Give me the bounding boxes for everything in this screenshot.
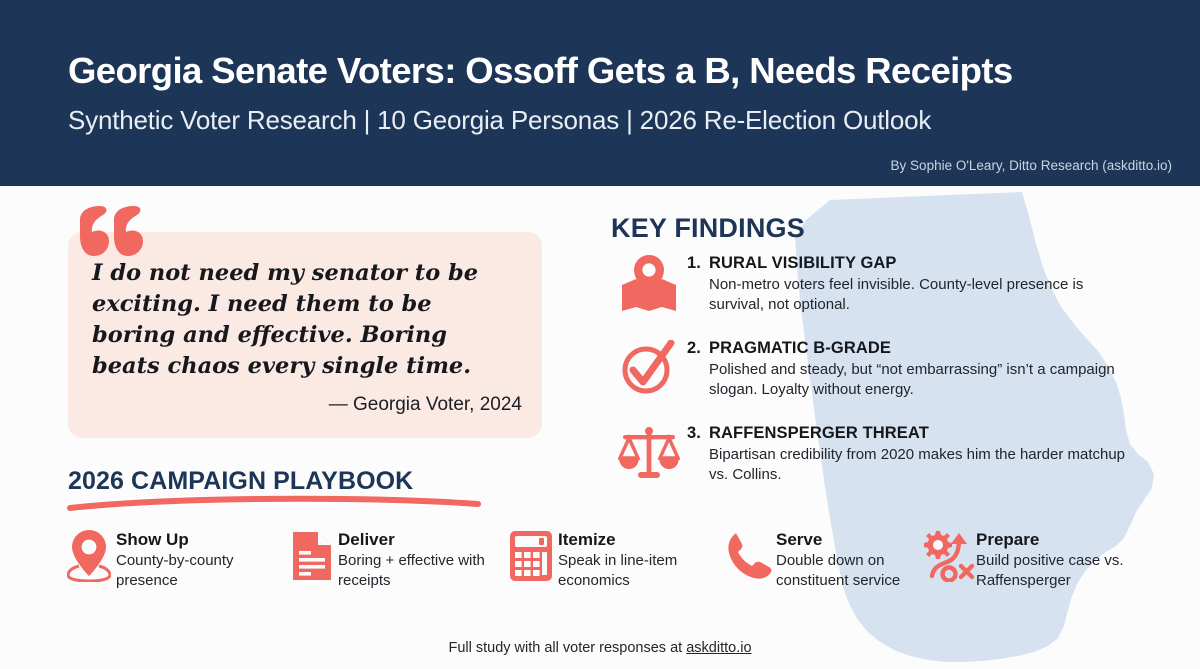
playbook-underline-stroke [64,492,484,514]
document-icon [284,527,338,583]
footer-link[interactable]: askditto.io [686,640,751,656]
key-finding-number: 3. [687,424,709,443]
playbook-description: Build positive case vs. Raffensperger [976,551,1152,590]
quotation-mark-icon [78,206,144,256]
playbook-item: Itemize Speak in line-item economics [504,527,722,590]
key-finding-item: 2.PRAGMATIC B-GRADE Polished and steady,… [611,337,1131,409]
infographic-root: Georgia Senate Voters: Ossoff Gets a B, … [0,0,1200,669]
playbook-description: Boring + effective with receipts [338,551,504,590]
header-banner: Georgia Senate Voters: Ossoff Gets a B, … [0,0,1200,186]
key-finding-number: 1. [687,254,709,273]
key-finding-title: 3.RAFFENSPERGER THREAT [687,424,1131,443]
playbook-body: Serve Double down on constituent service [776,527,922,590]
quote-attribution: — Georgia Voter, 2024 [92,394,522,416]
key-finding-title: 1.RURAL VISIBILITY GAP [687,254,1131,273]
playbook-title: Prepare [976,530,1152,550]
key-finding-body: 2.PRAGMATIC B-GRADE Polished and steady,… [687,337,1131,400]
playbook-item: Show Up County-by-county presence [62,527,284,590]
circled-checkmark-icon [611,337,687,397]
playbook-body: Prepare Build positive case vs. Raffensp… [976,527,1152,590]
playbook-description: County-by-county presence [116,551,284,590]
key-findings-list: 1.RURAL VISIBILITY GAP Non-metro voters … [611,252,1131,507]
key-finding-title-text: PRAGMATIC B-GRADE [709,339,891,357]
key-finding-item: 1.RURAL VISIBILITY GAP Non-metro voters … [611,252,1131,324]
playbook-title: Show Up [116,530,284,550]
page-title: Georgia Senate Voters: Ossoff Gets a B, … [68,50,1013,92]
key-finding-item: 3.RAFFENSPERGER THREAT Bipartisan credib… [611,422,1131,494]
page-subtitle: Synthetic Voter Research | 10 Georgia Pe… [68,105,931,136]
playbook-title: Itemize [558,530,722,550]
byline: By Sophie O'Leary, Ditto Research (askdi… [891,158,1172,173]
calculator-icon [504,527,558,583]
footer-text: Full study with all voter responses at [448,640,686,656]
footer: Full study with all voter responses at a… [0,640,1200,656]
location-pin-icon [62,527,116,583]
key-finding-number: 2. [687,339,709,358]
playbook-row: Show Up County-by-county presence Delive… [62,527,1172,590]
key-finding-description: Polished and steady, but “not embarrassi… [687,360,1131,400]
key-finding-title-text: RURAL VISIBILITY GAP [709,254,897,272]
playbook-item: Prepare Build positive case vs. Raffensp… [922,527,1152,590]
playbook-description: Double down on constituent service [776,551,922,590]
playbook-title: Serve [776,530,922,550]
map-location-pin-icon [611,252,687,312]
playbook-description: Speak in line-item economics [558,551,722,590]
strategy-gear-arrow-icon [922,527,976,583]
key-finding-title-text: RAFFENSPERGER THREAT [709,424,929,442]
balance-scales-icon [611,422,687,482]
playbook-title: Deliver [338,530,504,550]
phone-handset-icon [722,527,776,583]
key-finding-description: Non-metro voters feel invisible. County-… [687,275,1131,315]
key-finding-body: 3.RAFFENSPERGER THREAT Bipartisan credib… [687,422,1131,485]
quote-text: I do not need my senator to be exciting.… [92,258,522,382]
key-finding-body: 1.RURAL VISIBILITY GAP Non-metro voters … [687,252,1131,315]
playbook-item: Serve Double down on constituent service [722,527,922,590]
key-finding-description: Bipartisan credibility from 2020 makes h… [687,445,1131,485]
playbook-body: Deliver Boring + effective with receipts [338,527,504,590]
playbook-body: Show Up County-by-county presence [116,527,284,590]
key-findings-heading: KEY FINDINGS [611,213,805,244]
playbook-item: Deliver Boring + effective with receipts [284,527,504,590]
key-finding-title: 2.PRAGMATIC B-GRADE [687,339,1131,358]
playbook-body: Itemize Speak in line-item economics [558,527,722,590]
